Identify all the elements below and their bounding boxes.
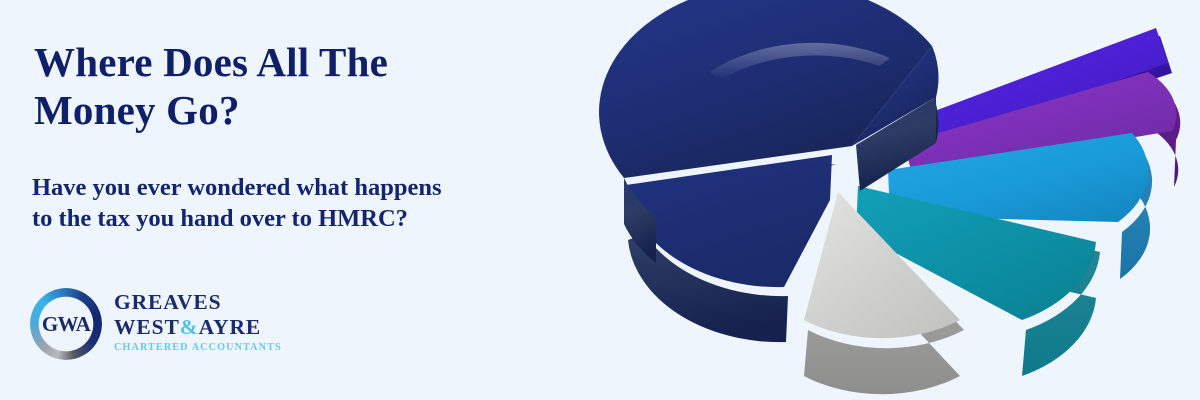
logo-name-west: WEST — [114, 315, 180, 339]
pie-slice-segment-2[interactable] — [626, 155, 836, 342]
banner-root: Where Does All The Money Go? Have you ev… — [0, 0, 1200, 400]
text-panel: Where Does All The Money Go? Have you ev… — [0, 0, 580, 400]
page-subtitle: Have you ever wondered what happens to t… — [32, 172, 552, 235]
logo-wordmark: GREAVES WEST&AYRE CHARTERED ACCOUNTANTS — [114, 290, 274, 353]
pie-chart — [560, 0, 1200, 400]
subhead-line-2: to the tax you hand over to HMRC? — [32, 203, 552, 234]
logo-name-ayre: AYRE — [199, 315, 262, 339]
logo-tagline: CHARTERED ACCOUNTANTS — [114, 342, 274, 353]
logo-monogram: GWA — [30, 288, 102, 360]
logo-name-line-1: GREAVES — [114, 290, 274, 315]
logo-name-line-2: WEST&AYRE — [114, 315, 274, 340]
pie-chart-svg — [560, 0, 1200, 400]
subhead-line-1: Have you ever wondered what happens — [32, 174, 442, 201]
headline-line-2: Money Go? — [34, 86, 554, 134]
logo-mark: GWA — [30, 288, 102, 360]
logo-ampersand-icon: & — [180, 315, 199, 339]
headline-line-1: Where Does All The — [34, 39, 388, 85]
company-logo[interactable]: GWA GREAVES WEST&AYRE CHARTERED ACCOUNTA… — [30, 286, 270, 364]
page-title: Where Does All The Money Go? — [34, 38, 554, 135]
